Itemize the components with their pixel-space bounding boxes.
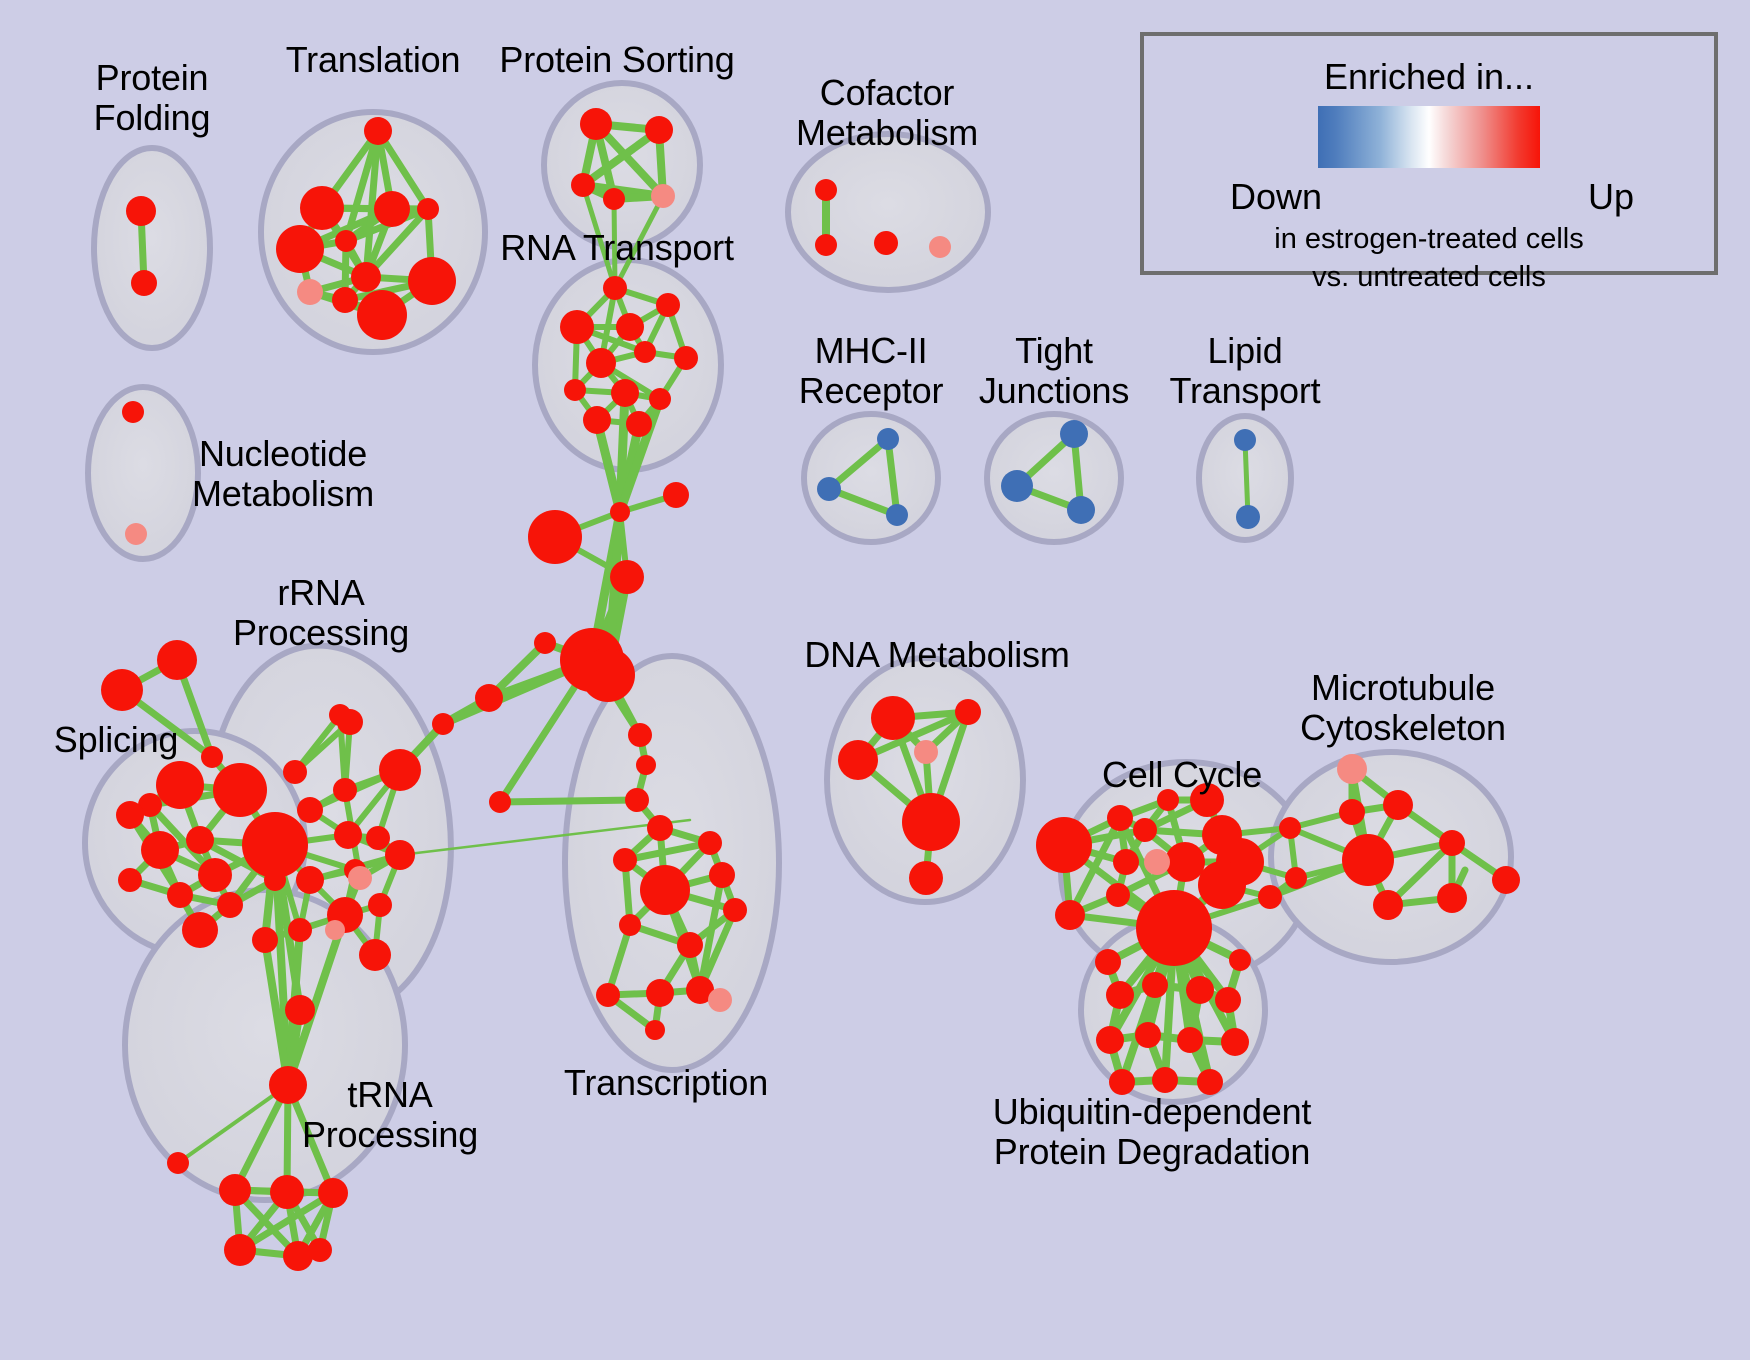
- color-scale-bar: [1318, 106, 1540, 168]
- cluster-label-nucleotide-metabolism: Nucleotide Metabolism: [192, 434, 374, 515]
- hull-protein-sorting: [544, 83, 700, 247]
- cluster-label-rrna-processing: rRNA Processing: [233, 573, 409, 654]
- cluster-label-translation: Translation: [286, 40, 461, 80]
- cluster-label-trna-processing: tRNA Processing: [302, 1075, 478, 1156]
- cluster-label-ubiquitin-degradation: Ubiquitin-dependent Protein Degradation: [993, 1092, 1311, 1173]
- legend-subtitle-line2: vs. untreated cells: [1312, 261, 1546, 293]
- hull-mhc-ii: [804, 414, 938, 542]
- hull-cofactor: [788, 134, 988, 290]
- cluster-label-tight-junctions: Tight Junctions: [979, 331, 1129, 412]
- cluster-label-splicing: Splicing: [54, 720, 178, 760]
- legend-low-label: Down: [1230, 176, 1322, 218]
- legend-subtitle: in estrogen-treated cellsvs. untreated c…: [1144, 221, 1714, 296]
- cluster-label-transcription: Transcription: [564, 1063, 768, 1103]
- cluster-label-protein-folding: Protein Folding: [94, 58, 211, 139]
- legend-subtitle-line1: in estrogen-treated cells: [1274, 223, 1584, 255]
- cluster-label-microtubule-cytoskeleton: Microtubule Cytoskeleton: [1300, 668, 1506, 749]
- enrichment-map-figure: Protein Folding Translation Protein Sort…: [0, 0, 1750, 1360]
- cluster-label-mhc-ii-receptor: MHC-II Receptor: [799, 331, 943, 412]
- cluster-label-protein-sorting: Protein Sorting: [499, 40, 734, 80]
- cluster-label-cofactor-metabolism: Cofactor Metabolism: [796, 73, 978, 154]
- cluster-label-rna-transport: RNA Transport: [500, 228, 734, 268]
- hull-protein-folding: [94, 148, 210, 348]
- legend-title: Enriched in...: [1144, 56, 1714, 98]
- legend-high-label: Up: [1588, 176, 1634, 218]
- hull-transcription: [565, 656, 779, 1070]
- legend-box: Enriched in... Down Up in estrogen-treat…: [1140, 32, 1718, 275]
- cluster-label-cell-cycle: Cell Cycle: [1102, 755, 1262, 795]
- cluster-label-dna-metabolism: DNA Metabolism: [804, 635, 1069, 675]
- cluster-label-lipid-transport: Lipid Transport: [1170, 331, 1321, 412]
